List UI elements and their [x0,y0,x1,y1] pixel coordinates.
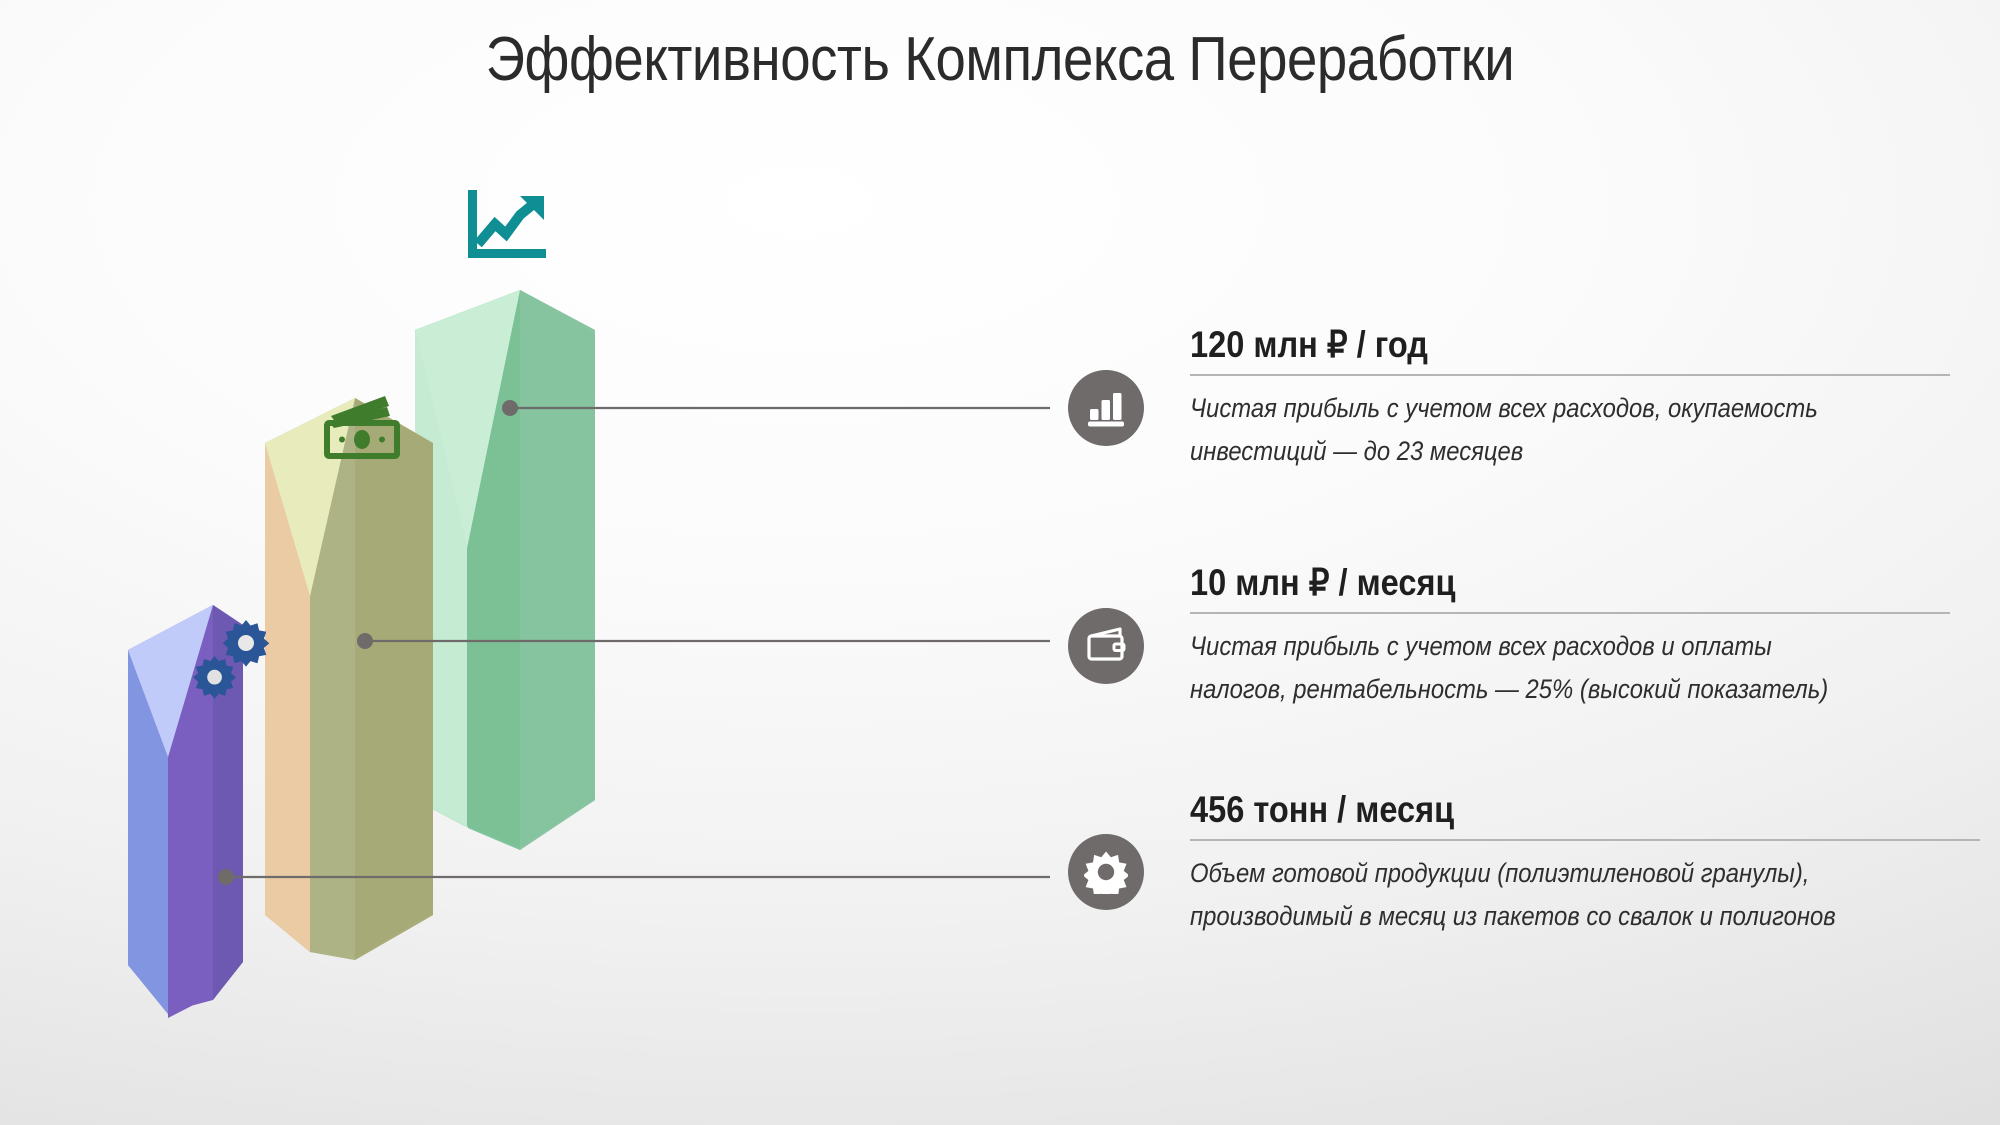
divider-profit-month [1190,612,1950,614]
description-line: Объем готовой продукции (полиэтиленовой … [1190,852,1901,895]
info-block-output-month: 456 тонн / месяц Объем готовой продукции… [1190,790,1980,938]
gear-icon [1084,850,1128,894]
info-block-profit-year: 120 млн ₽ / год Чистая прибыль с учетом … [1190,325,1950,473]
headline-profit-year: 120 млн ₽ / год [1190,325,1859,365]
bar-tan-final [265,398,433,958]
headline-profit-month: 10 млн ₽ / месяц [1190,563,1859,603]
headline-output-month: 456 тонн / месяц [1190,790,1885,830]
info-block-profit-month: 10 млн ₽ / месяц Чистая прибыль с учетом… [1190,563,1950,711]
description-profit-year: Чистая прибыль с учетом всех расходов, о… [1190,387,1874,473]
infographic-canvas: Эффективность Комплекса Переработки [0,0,2000,1125]
description-line: производимый в месяц из пакетов со свало… [1190,895,1901,938]
description-output-month: Объем готовой продукции (полиэтиленовой … [1190,852,1901,938]
bar-chart-icon [1085,387,1127,429]
description-line: налогов, рентабельность — 25% (высокий п… [1190,668,1874,711]
icon-badge-output-month[interactable] [1068,834,1144,910]
bar-green-final [415,290,595,848]
description-line: Чистая прибыль с учетом всех расходов, о… [1190,387,1874,430]
icon-badge-profit-year[interactable] [1068,370,1144,446]
wallet-icon [1084,626,1128,666]
description-line: инвестиций — до 23 месяцев [1190,430,1874,473]
growth-chart-icon [468,190,546,258]
divider-output-month [1190,839,1980,841]
description-profit-month: Чистая прибыль с учетом всех расходов и … [1190,625,1874,711]
divider-profit-year [1190,374,1950,376]
icon-badge-profit-month[interactable] [1068,608,1144,684]
description-line: Чистая прибыль с учетом всех расходов и … [1190,625,1874,668]
